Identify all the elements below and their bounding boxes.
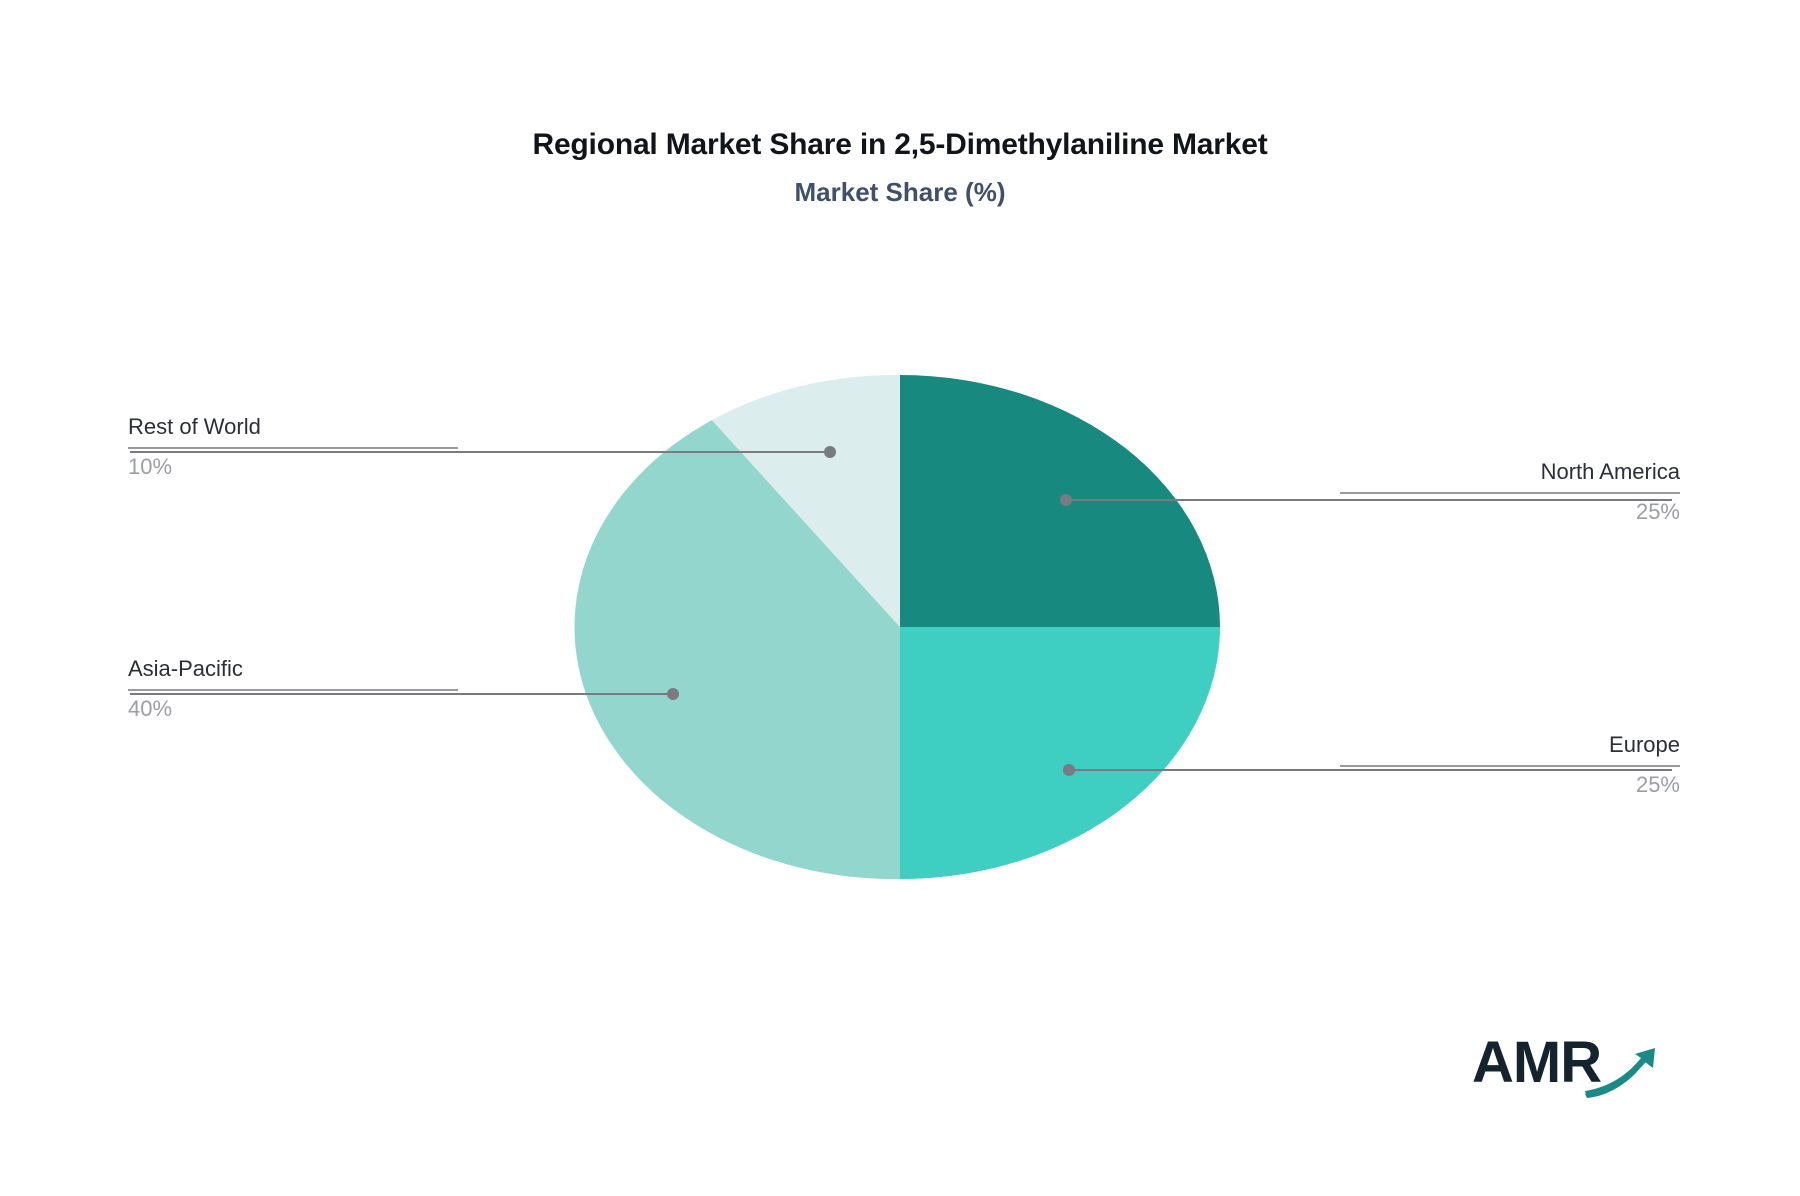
callout-asia-pacific: Asia-Pacific 40% [128, 655, 458, 722]
callout-label-rest-of-world: Rest of World [128, 413, 458, 441]
callout-label-europe: Europe [1340, 731, 1680, 759]
anchor-dot-north-america [1060, 494, 1072, 506]
callout-label-asia-pacific: Asia-Pacific [128, 655, 458, 683]
callout-rule-rest-of-world [128, 447, 458, 449]
callout-label-north-america: North America [1340, 458, 1680, 486]
callout-rule-europe [1340, 765, 1680, 767]
callout-value-europe: 25% [1340, 771, 1680, 799]
pie-slice-europe [900, 627, 1220, 879]
callout-value-rest-of-world: 10% [128, 453, 458, 481]
pie-graphic [0, 0, 1800, 1196]
callout-value-north-america: 25% [1340, 498, 1680, 526]
anchor-dot-europe [1063, 764, 1075, 776]
callout-rest-of-world: Rest of World 10% [128, 413, 458, 480]
callout-value-asia-pacific: 40% [128, 695, 458, 723]
pie-top-face [575, 375, 1220, 879]
anchor-dot-asia-pacific [667, 688, 679, 700]
callout-rule-north-america [1340, 492, 1680, 494]
callout-north-america: North America 25% [1340, 458, 1680, 525]
amr-logo-text: AMR [1472, 1034, 1601, 1092]
growth-arrow-icon [1585, 1046, 1675, 1102]
pie-chart-figure: Regional Market Share in 2,5-Dimethylani… [0, 0, 1800, 1196]
callout-europe: Europe 25% [1340, 731, 1680, 798]
amr-logo: AMR [1472, 1028, 1672, 1106]
anchor-dot-rest-of-world [824, 446, 836, 458]
callout-rule-asia-pacific [128, 689, 458, 691]
